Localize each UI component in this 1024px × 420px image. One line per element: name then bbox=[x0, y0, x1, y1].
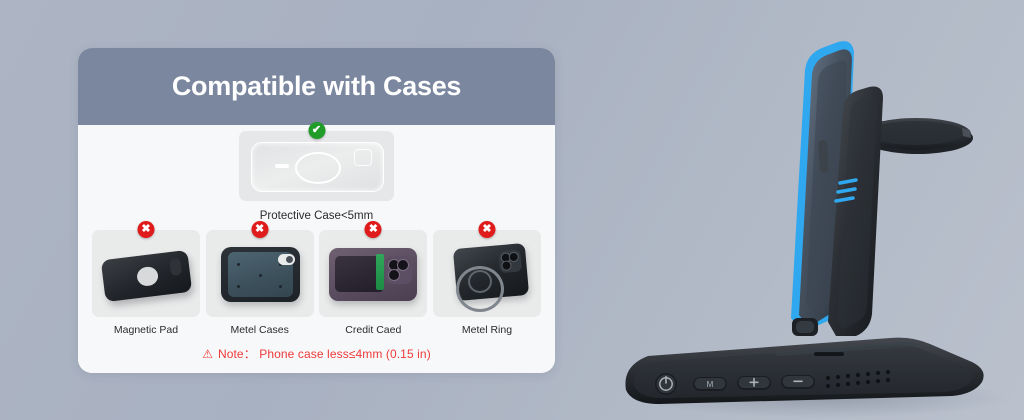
card-body: ✔ Protective Case<5mm ✖ bbox=[78, 125, 555, 373]
warning-triangle-icon: ⚠ bbox=[202, 348, 213, 360]
incompatible-cases-row: ✖ Magnetic Pad ✖ bbox=[92, 230, 541, 336]
magsafe-ring-icon bbox=[295, 152, 341, 184]
protective-case-image bbox=[239, 131, 394, 201]
minus-button[interactable] bbox=[781, 375, 815, 389]
svg-text:M: M bbox=[707, 380, 714, 389]
screw-dot-icon bbox=[259, 274, 262, 277]
screw-dot-icon bbox=[279, 285, 282, 288]
charger-illustration: M bbox=[600, 0, 1024, 420]
featured-case-label: Protective Case<5mm bbox=[260, 210, 373, 222]
page-title: Compatible with Cases bbox=[172, 71, 461, 102]
note-text: Note： Phone case less≤4mm (0.15 in) bbox=[218, 345, 431, 362]
cross-badge-icon: ✖ bbox=[365, 221, 382, 238]
plus-button[interactable] bbox=[737, 376, 771, 390]
magnetic-pad-image bbox=[92, 230, 200, 317]
magnetic-pad-shape bbox=[101, 250, 192, 302]
thumb-wrap: ✖ bbox=[319, 230, 427, 317]
screw-dot-icon bbox=[237, 285, 240, 288]
rugged-case-shape bbox=[221, 247, 300, 302]
cross-badge-icon: ✖ bbox=[138, 221, 155, 238]
magsafe-bar-icon bbox=[275, 164, 289, 168]
case-item-metal-cases: ✖ Metel Cases bbox=[206, 230, 314, 336]
credit-card-holder-shape bbox=[329, 248, 417, 301]
mode-button[interactable]: M bbox=[693, 377, 727, 391]
phone-side-button bbox=[818, 140, 829, 173]
thumb-wrap: ✖ bbox=[206, 230, 314, 317]
camera-bump-icon bbox=[169, 258, 182, 276]
case-item-magnetic-pad: ✖ Magnetic Pad bbox=[92, 230, 200, 336]
camera-block-icon bbox=[498, 249, 522, 273]
credit-card-image bbox=[319, 230, 427, 317]
metal-disc-icon bbox=[136, 266, 159, 287]
charger-base bbox=[625, 338, 983, 404]
compatible-cases-card: Compatible with Cases ✔ Protective Case<… bbox=[78, 48, 555, 373]
camera-block-icon bbox=[385, 256, 412, 284]
case-item-metal-ring: ✖ Metel Ring bbox=[433, 230, 541, 336]
featured-case-item: ✔ Protective Case<5mm bbox=[78, 131, 555, 222]
metal-case-image bbox=[206, 230, 314, 317]
camera-cutout-icon bbox=[278, 254, 295, 265]
case-label: Magnetic Pad bbox=[114, 324, 178, 336]
usb-port bbox=[814, 352, 844, 356]
note-row: ⚠ Note： Phone case less≤4mm (0.15 in) bbox=[78, 345, 555, 362]
featured-thumb-wrap: ✔ bbox=[239, 131, 394, 201]
case-label: Metel Cases bbox=[230, 324, 288, 336]
power-button[interactable] bbox=[655, 373, 677, 395]
case-label: Metel Ring bbox=[462, 324, 512, 336]
metal-ring-image bbox=[433, 230, 541, 317]
cross-badge-icon: ✖ bbox=[251, 221, 268, 238]
check-badge-icon: ✔ bbox=[308, 122, 325, 139]
card-header: Compatible with Cases bbox=[78, 48, 555, 125]
metal-ring-icon bbox=[456, 266, 504, 312]
hinge bbox=[792, 318, 818, 336]
camera-lens-icon bbox=[354, 149, 372, 166]
case-label: Credit Caed bbox=[345, 324, 401, 336]
product-image-wireless-charger: M bbox=[600, 0, 1024, 420]
credit-card-icon bbox=[376, 254, 384, 290]
thumb-wrap: ✖ bbox=[92, 230, 200, 317]
screw-dot-icon bbox=[237, 263, 240, 266]
thumb-wrap: ✖ bbox=[433, 230, 541, 317]
case-item-credit-card: ✖ Credit Caed bbox=[319, 230, 427, 336]
cross-badge-icon: ✖ bbox=[478, 221, 495, 238]
